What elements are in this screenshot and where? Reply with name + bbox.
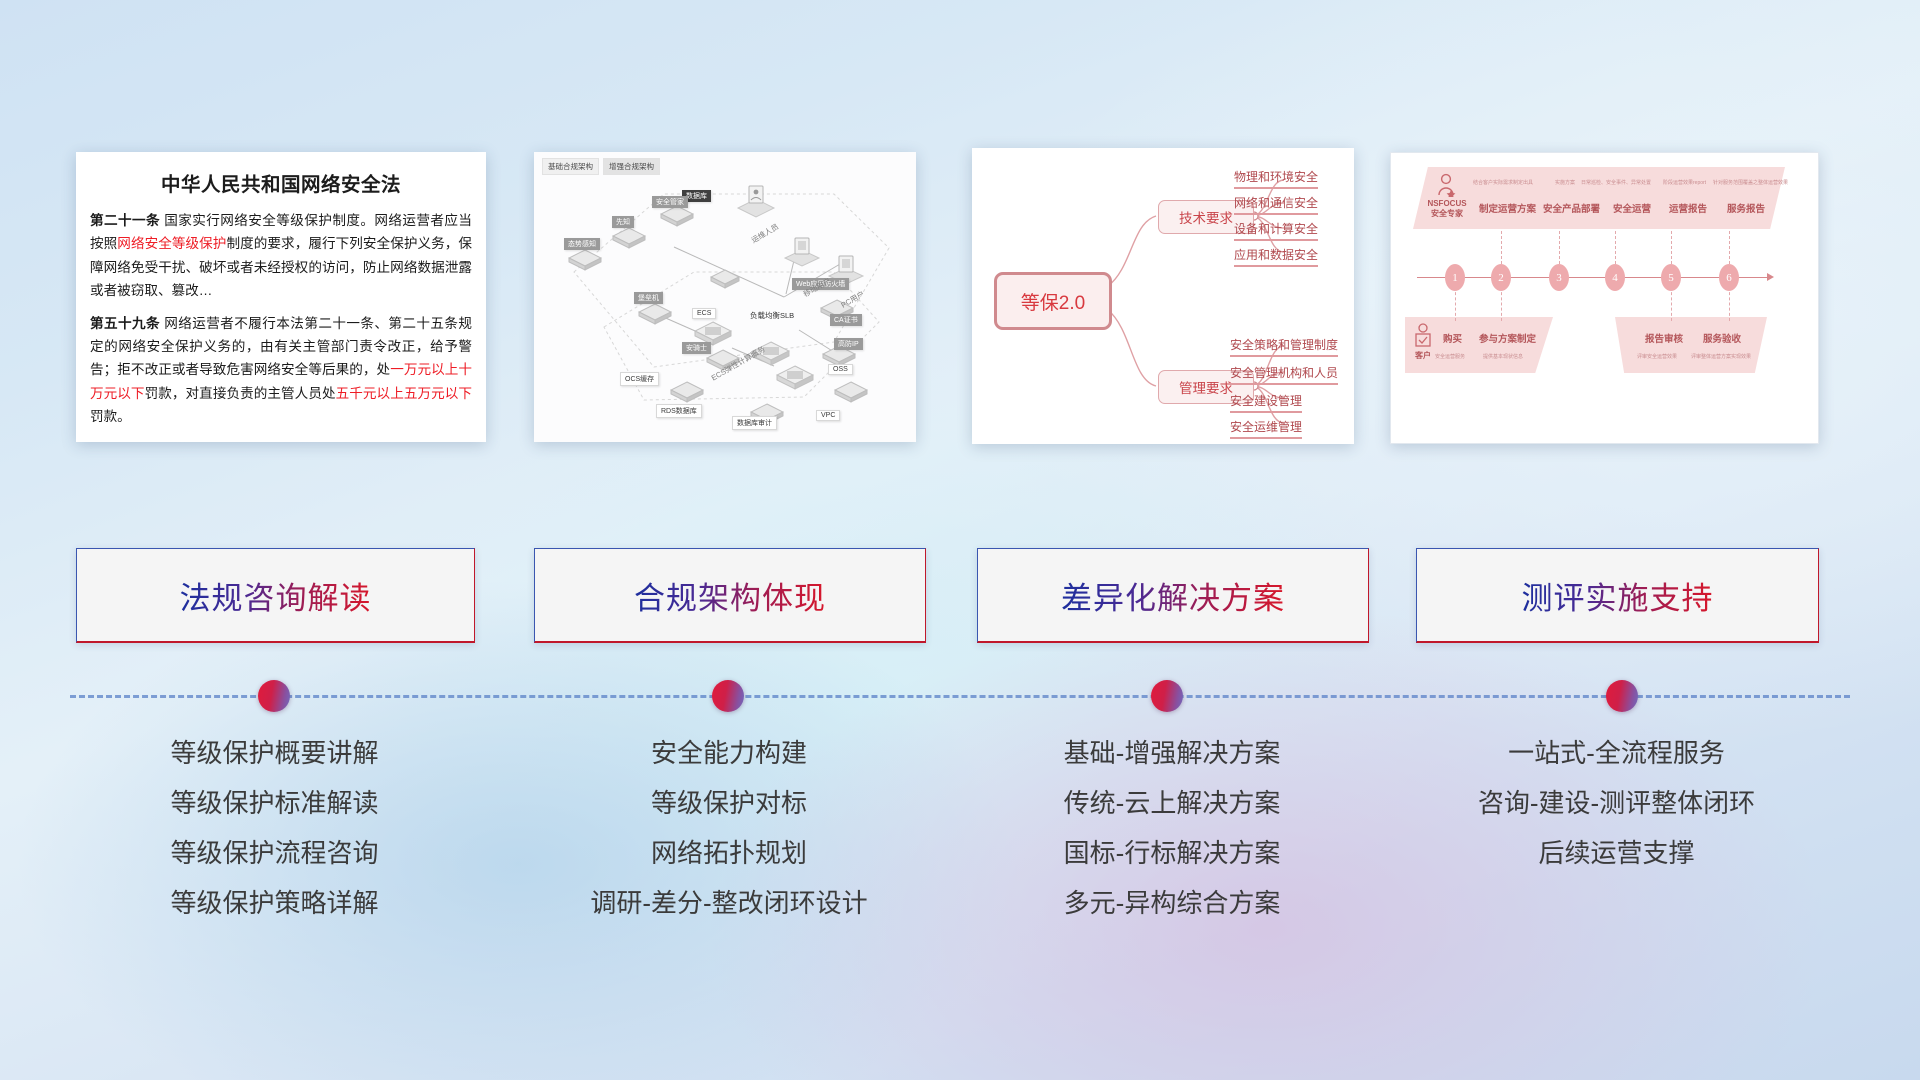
flow-bottom-main: 报告审核	[1645, 331, 1683, 345]
flow-band-bottom-right	[1615, 317, 1767, 373]
mindmap-leaf[interactable]: 安全管理机构和人员	[1230, 364, 1338, 385]
flow-connector	[1501, 287, 1502, 321]
iso-server-icon	[776, 364, 814, 397]
flow-bottom-main: 参与方案制定	[1479, 331, 1536, 345]
headline-box-3[interactable]: 差异化解决方案	[977, 548, 1369, 643]
node-label-anqishi: 安骑士	[682, 342, 711, 354]
customer-label: 客户	[1409, 351, 1437, 361]
node-label-oss: OSS	[828, 364, 853, 375]
architecture-diagram-card[interactable]: 基础合规架构 增强合规架构	[534, 152, 916, 442]
iso-monitor-icon	[734, 184, 778, 227]
architecture-canvas: 基础合规架构 增强合规架构	[534, 152, 916, 442]
mindmap-leaf[interactable]: 物理和环境安全	[1234, 168, 1318, 189]
mindmap-root-node[interactable]: 等保2.0	[994, 272, 1112, 330]
customer-person-icon	[1413, 323, 1433, 349]
slide-canvas: 中华人民共和国网络安全法 第二十一条 国家实行网络安全等级保护制度。网络运营者应…	[0, 0, 1920, 1080]
flow-band-top	[1413, 167, 1785, 229]
node-label-prophet: 先知	[612, 216, 634, 228]
flow-connector	[1729, 287, 1730, 321]
detail-item: 等级保护概要讲解	[76, 740, 473, 766]
flow-step-dot[interactable]: 2	[1491, 264, 1511, 291]
timeline-marker-1[interactable]	[258, 680, 290, 712]
headline-box-2[interactable]: 合规架构体现	[534, 548, 926, 643]
law-article-21: 第二十一条 国家实行网络安全等级保护制度。网络运营者应当按照网络安全等级保护制度…	[90, 209, 472, 303]
headline-label: 合规架构体现	[634, 573, 826, 618]
node-label-ocs-cache: OCS缓存	[620, 372, 659, 386]
timeline-dashed-line	[70, 695, 1850, 698]
flow-bottom-sub: 评审安全运营效果	[1637, 353, 1677, 360]
mindmap-leaf[interactable]: 设备和计算安全	[1234, 220, 1318, 241]
flow-bottom-sub: 提供基本现状信息	[1483, 353, 1523, 360]
expert-person-icon	[1435, 173, 1457, 197]
flow-top-sub: 阶段运营效果report	[1663, 179, 1706, 186]
flow-connector	[1671, 287, 1672, 321]
flow-axis-arrow-icon	[1767, 273, 1774, 281]
detail-item: 一站式-全流程服务	[1416, 740, 1817, 766]
nsfocus-brand-line1: NSFOCUS	[1421, 199, 1473, 209]
law-article-21-label: 第二十一条	[90, 213, 160, 228]
iso-cube-icon	[834, 380, 868, 409]
flow-top-main: 安全产品部署	[1543, 201, 1600, 215]
timeline-marker-2[interactable]	[712, 680, 744, 712]
flow-bottom-sub: 安全运营服务	[1435, 353, 1465, 360]
detail-column-2: 安全能力构建 等级保护对标 网络拓扑规划 调研-差分-整改闭环设计	[534, 740, 924, 940]
detail-item: 基础-增强解决方案	[977, 740, 1367, 766]
mindmap-leaf[interactable]: 安全策略和管理制度	[1230, 336, 1338, 357]
nsfocus-expert-label: NSFOCUS 安全专家	[1421, 199, 1473, 219]
detail-item: 传统-云上解决方案	[977, 790, 1367, 816]
iso-cube-icon	[660, 204, 694, 233]
law-article-59-text-c: 罚款。	[90, 409, 131, 424]
node-label-db-audit: 数据库审计	[732, 416, 777, 430]
flow-bottom-main: 购买	[1443, 331, 1462, 345]
flow-bottom-main: 服务验收	[1703, 331, 1741, 345]
flow-canvas: NSFOCUS 安全专家 客户 结合客户实际需求制定出具 制定运营方案 实施方案…	[1391, 153, 1818, 443]
mindmap-card[interactable]: 等保2.0 技术要求 管理要求 物理和环境安全 网络和通信安全 设备和计算安全 …	[972, 148, 1354, 444]
law-card-body: 第二十一条 国家实行网络安全等级保护制度。网络运营者应当按照网络安全等级保护制度…	[76, 209, 486, 428]
flow-top-sub: 针对服务范围覆盖之整体运营效果	[1713, 179, 1788, 186]
headline-label: 差异化解决方案	[1061, 573, 1285, 618]
detail-column-1: 等级保护概要讲解 等级保护标准解读 等级保护流程咨询 等级保护策略详解	[76, 740, 473, 940]
node-label-bastion-host: 堡垒机	[634, 292, 663, 304]
detail-item: 调研-差分-整改闭环设计	[534, 890, 924, 916]
mindmap-canvas: 等保2.0 技术要求 管理要求 物理和环境安全 网络和通信安全 设备和计算安全 …	[972, 148, 1354, 444]
node-label-vpc: VPC	[816, 410, 840, 421]
flow-step-dot[interactable]: 3	[1549, 264, 1569, 291]
flow-top-sub: 日常巡检、安全事件、异常处置	[1581, 179, 1651, 186]
detail-item: 等级保护对标	[534, 790, 924, 816]
flow-step-dot[interactable]: 4	[1605, 264, 1625, 291]
mindmap-leaf[interactable]: 安全建设管理	[1230, 392, 1302, 413]
flow-connector	[1455, 287, 1456, 321]
headline-label: 法规咨询解读	[180, 573, 372, 618]
iso-cube-icon	[568, 248, 602, 277]
law-card-title: 中华人民共和国网络安全法	[76, 168, 486, 197]
flow-step-dot[interactable]: 6	[1719, 264, 1739, 291]
node-label-anti-ddos-ip: 高防IP	[834, 338, 863, 350]
law-article-59: 第五十九条 网络运营者不履行本法第二十一条、第二十五条规定的网络安全保护义务的，…	[90, 312, 472, 429]
detail-item: 多元-异构综合方案	[977, 890, 1367, 916]
detail-item: 等级保护标准解读	[76, 790, 473, 816]
flow-timeline-axis	[1417, 277, 1769, 278]
nsfocus-flow-card[interactable]: NSFOCUS 安全专家 客户 结合客户实际需求制定出具 制定运营方案 实施方案…	[1390, 152, 1819, 444]
flow-bottom-sub: 评审整体运营方案实现效果	[1691, 353, 1751, 360]
node-label-rds-database: RDS数据库	[656, 404, 702, 418]
detail-column-4: 一站式-全流程服务 咨询-建设-测评整体闭环 后续运营支撑	[1416, 740, 1817, 890]
node-label-slb: 负载均衡SLB	[750, 310, 794, 321]
flow-top-main: 运营报告	[1669, 201, 1707, 215]
flow-top-main: 服务报告	[1727, 201, 1765, 215]
timeline-marker-3[interactable]	[1151, 680, 1183, 712]
detail-item: 国标-行标解决方案	[977, 840, 1367, 866]
iso-monitor-icon	[782, 236, 822, 277]
law-article-59-text-b: 罚款，对直接负责的主管人员处	[145, 386, 336, 401]
flow-top-sub: 结合客户实际需求制定出具	[1473, 179, 1533, 186]
law-text-card[interactable]: 中华人民共和国网络安全法 第二十一条 国家实行网络安全等级保护制度。网络运营者应…	[76, 152, 486, 442]
headline-label: 测评实施支持	[1522, 573, 1714, 618]
flow-step-dot[interactable]: 5	[1661, 264, 1681, 291]
iso-cube-icon	[612, 226, 646, 255]
flow-top-sub: 实施方案	[1555, 179, 1575, 186]
detail-column-3: 基础-增强解决方案 传统-云上解决方案 国标-行标解决方案 多元-异构综合方案	[977, 740, 1367, 940]
detail-item: 等级保护流程咨询	[76, 840, 473, 866]
node-label-ca-certificate: CA证书	[830, 314, 862, 326]
headline-box-1[interactable]: 法规咨询解读	[76, 548, 475, 643]
iso-cube-icon	[710, 268, 740, 295]
illustration-card-row: 中华人民共和国网络安全法 第二十一条 国家实行网络安全等级保护制度。网络运营者应…	[0, 0, 1920, 470]
timeline-marker-4[interactable]	[1606, 680, 1638, 712]
nsfocus-brand-line2: 安全专家	[1421, 209, 1473, 219]
iso-cube-icon	[638, 302, 672, 331]
flow-step-dot[interactable]: 1	[1445, 264, 1465, 291]
mindmap-leaf[interactable]: 网络和通信安全	[1234, 194, 1318, 215]
node-label-ecs: ECS	[692, 308, 716, 319]
detail-item: 后续运营支撑	[1416, 840, 1817, 866]
detail-item: 安全能力构建	[534, 740, 924, 766]
node-label-situational-awareness: 态势感知	[564, 238, 600, 250]
flow-top-main: 制定运营方案	[1479, 201, 1536, 215]
law-article-59-highlight-2: 五千元以上五万元以下	[336, 386, 472, 401]
detail-item: 网络拓扑规划	[534, 840, 924, 866]
law-article-59-label: 第五十九条	[90, 316, 160, 331]
node-label-security-butler: 安全管家	[652, 196, 688, 208]
law-article-21-highlight: 网络安全等级保护	[117, 236, 226, 251]
mindmap-leaf[interactable]: 应用和数据安全	[1234, 246, 1318, 267]
detail-item: 咨询-建设-测评整体闭环	[1416, 790, 1817, 816]
detail-item: 等级保护策略详解	[76, 890, 473, 916]
headline-box-4[interactable]: 测评实施支持	[1416, 548, 1819, 643]
flow-top-main: 安全运营	[1613, 201, 1651, 215]
mindmap-leaf[interactable]: 安全运维管理	[1230, 418, 1302, 439]
